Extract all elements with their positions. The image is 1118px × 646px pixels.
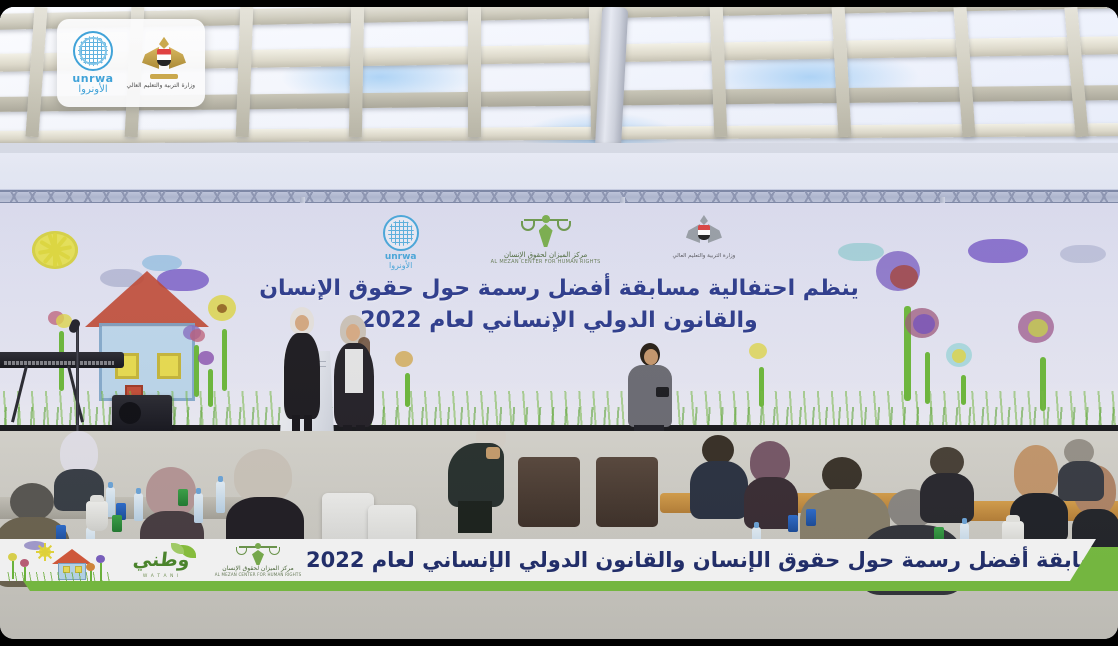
headline-line-2: والقانون الدولي الإنساني لعام 2022	[0, 305, 1118, 337]
unrwa-arabic: الأونروا	[383, 262, 419, 271]
backdrop-unrwa-logo: unrwa الأونروا	[383, 215, 419, 271]
coffee-thermos	[1002, 521, 1024, 551]
audience-member	[54, 431, 104, 491]
water-bottle	[86, 527, 95, 557]
keyboard-instrument	[0, 352, 124, 368]
ministry-arabic: وزارة التربية والتعليم العالي	[673, 253, 736, 259]
microphone-stand	[76, 325, 79, 437]
torso	[920, 473, 974, 523]
chair	[368, 505, 416, 561]
audience-member	[690, 435, 748, 515]
backdrop-almezan-logo: مركز الميزان لحقوق الإنسان AL MEZAN CENT…	[491, 215, 601, 265]
video-content: unrwa الأونروا مركز الميزان لحقوق الإنسا…	[0, 7, 1118, 639]
video-frame: unrwa الأونروا مركز الميزان لحقوق الإنسا…	[0, 0, 1118, 646]
ministry-logo: وزارة التربية والتعليم العالي	[133, 37, 195, 89]
torso	[284, 333, 320, 419]
water-bottle	[134, 493, 143, 521]
chair	[322, 493, 374, 555]
soda-can	[806, 509, 816, 526]
water-bottle	[194, 493, 203, 523]
head	[822, 457, 862, 493]
face	[295, 315, 309, 331]
audience-area	[0, 431, 1118, 639]
ministry-arabic: وزارة التربية والتعليم العالي	[133, 82, 195, 89]
audience-member	[744, 441, 798, 519]
unrwa-arabic: الأونروا	[67, 84, 119, 95]
un-emblem-icon	[73, 31, 113, 71]
torso	[690, 461, 748, 519]
backdrop-headline: ينظم احتفالية مسابقة أفضل رسمة حول حقوق …	[0, 273, 1118, 337]
soda-can	[112, 515, 122, 532]
headline-line-1: ينظم احتفالية مسابقة أفضل رسمة حول حقوق …	[259, 276, 858, 301]
face	[346, 324, 360, 341]
stage-speaker-left	[282, 307, 322, 447]
hijab	[1014, 445, 1058, 499]
almezan-arabic: مركز الميزان لحقوق الإنسان	[491, 251, 601, 259]
water-bottle	[752, 527, 761, 557]
backdrop-logo-row: unrwa الأونروا مركز الميزان لحقوق الإنسا…	[0, 215, 1118, 271]
torso	[1058, 461, 1104, 501]
hijab	[234, 449, 292, 503]
stage-monitor-speaker	[112, 395, 172, 431]
eagle-emblem-icon	[142, 37, 186, 79]
unrwa-logo: unrwa الأونروا	[67, 31, 119, 96]
torso	[1072, 509, 1118, 557]
un-emblem-icon	[383, 215, 419, 251]
hijab	[146, 467, 196, 517]
soda-can	[934, 527, 944, 544]
chair	[596, 457, 658, 527]
soda-can	[788, 515, 798, 532]
water-bottle	[216, 481, 225, 513]
soda-can	[178, 489, 188, 506]
audience-member-standing	[434, 431, 508, 531]
scales-of-justice-icon	[518, 215, 574, 249]
water-bottle	[960, 523, 969, 553]
audience-member	[1058, 439, 1104, 493]
audience-member	[226, 449, 300, 549]
soda-can	[56, 525, 66, 542]
chair	[518, 457, 580, 527]
torso	[226, 497, 304, 557]
torso	[862, 525, 962, 595]
unrwa-wordmark: unrwa	[67, 73, 119, 85]
backdrop-ministry-logo: وزارة التربية والتعليم العالي	[673, 215, 736, 259]
face	[644, 349, 658, 365]
audience-member	[920, 447, 974, 519]
head	[10, 483, 54, 521]
broadcaster-logo-card: unrwa الأونروا وزارة التربية والتعليم ال…	[57, 19, 205, 107]
eagle-emblem-icon	[685, 215, 723, 251]
almezan-english: AL MEZAN CENTER FOR HUMAN RIGHTS	[491, 259, 601, 265]
coffee-thermos	[86, 501, 108, 531]
